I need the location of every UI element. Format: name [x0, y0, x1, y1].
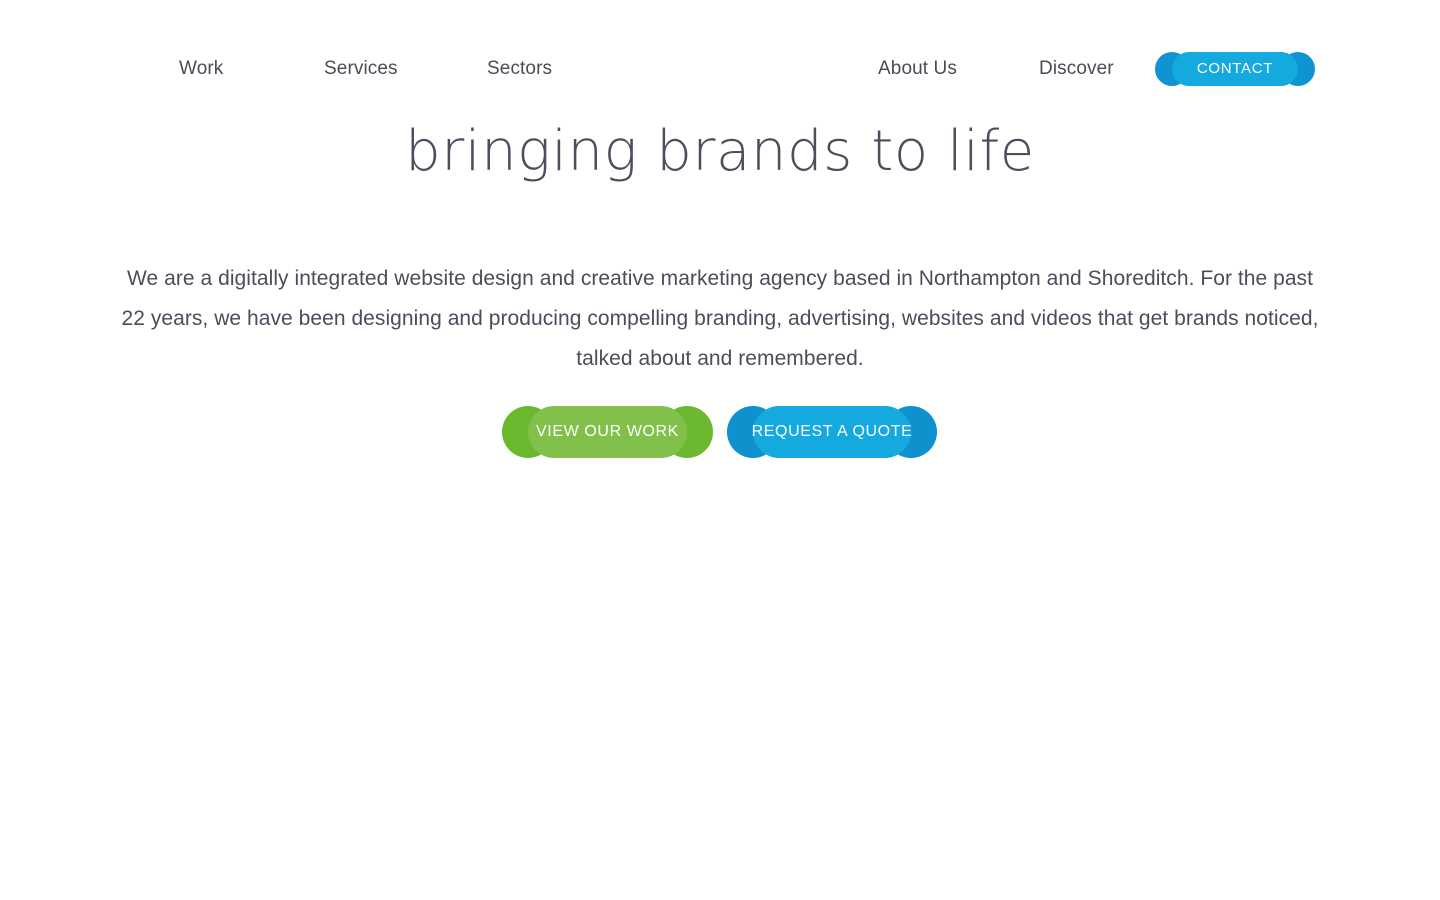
nav-item-discover[interactable]: Discover — [1039, 57, 1114, 81]
nav-item-work[interactable]: Work — [179, 57, 223, 81]
view-our-work-button[interactable]: VIEW OUR WORK — [502, 406, 713, 458]
cta-button-row: VIEW OUR WORK REQUEST A QUOTE — [0, 406, 1440, 462]
request-a-quote-button[interactable]: REQUEST A QUOTE — [727, 406, 937, 458]
nav-item-about-us[interactable]: About Us — [878, 57, 957, 81]
main-navigation: Work Services Sectors About Us Discover … — [0, 0, 1440, 108]
hero-paragraph: We are a digitally integrated website de… — [120, 259, 1320, 379]
page-root: Work Services Sectors About Us Discover … — [0, 0, 1440, 900]
nav-item-sectors[interactable]: Sectors — [487, 57, 552, 81]
view-our-work-label: VIEW OUR WORK — [502, 406, 713, 458]
contact-button[interactable]: CONTACT — [1155, 52, 1315, 86]
request-a-quote-label: REQUEST A QUOTE — [727, 406, 937, 458]
contact-button-label: CONTACT — [1155, 52, 1315, 86]
nav-item-services[interactable]: Services — [324, 57, 398, 81]
page-title: bringing brands to life — [0, 118, 1440, 186]
